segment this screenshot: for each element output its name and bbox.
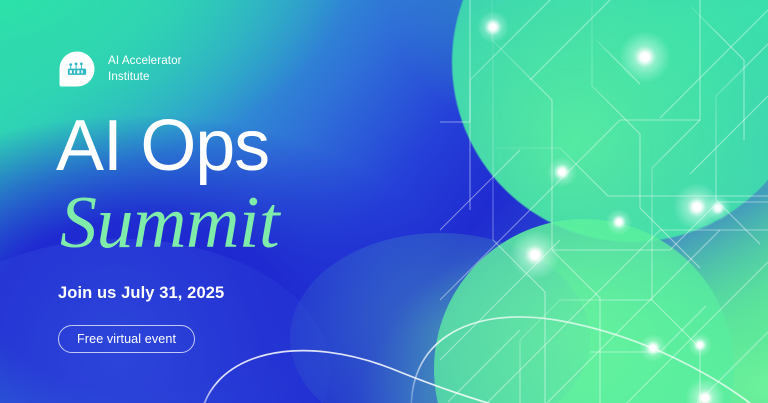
hero-content: AI Accelerator Institute AI Ops Summit J… (58, 0, 478, 403)
free-virtual-event-badge[interactable]: Free virtual event (58, 325, 195, 353)
event-date: Join us July 31, 2025 (58, 284, 224, 303)
event-promo-banner: AI Accelerator Institute AI Ops Summit J… (0, 0, 768, 403)
brand-logo[interactable]: AI Accelerator Institute (58, 50, 182, 88)
aiai-robot-bubble-icon (58, 50, 96, 88)
page-subtitle: Summit (60, 186, 279, 260)
brand-name: AI Accelerator Institute (108, 53, 182, 85)
page-title: AI Ops (56, 112, 269, 181)
